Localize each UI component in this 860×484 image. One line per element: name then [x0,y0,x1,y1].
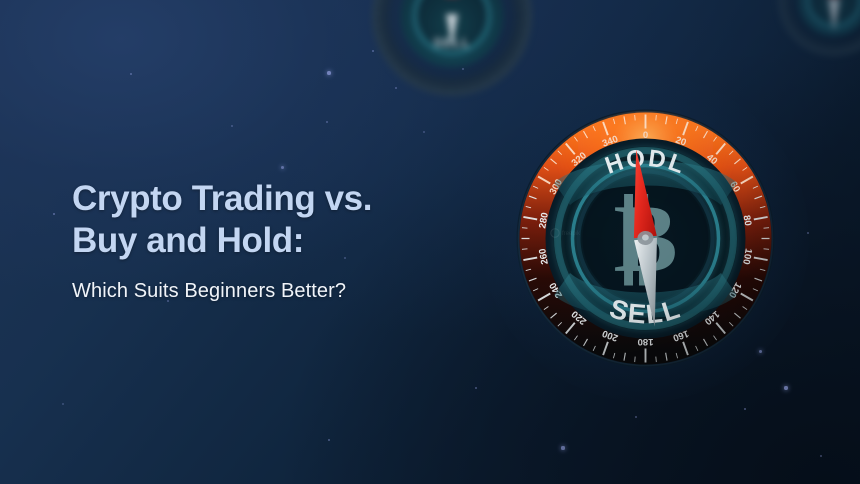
mini-dial-ring [414,0,491,54]
compass-svg: 0204060801001201401601802002202402602803… [516,109,775,368]
mini-needle-south-icon [446,14,458,46]
blurred-compass-top-right [778,0,860,56]
hero-banner: SELL Crypto Trading vs. Buy and Hold: Wh… [0,0,860,484]
mini-dial-face [401,0,503,67]
star-particle [327,71,331,75]
star-particle [326,121,328,123]
star-particle [130,73,133,76]
mini-needle-south-icon [828,0,840,31]
mini-bezel [778,0,860,56]
star-particle [635,416,637,418]
mini-label-south: SELL [372,35,532,50]
headline-block: Crypto Trading vs. Buy and Hold: Which S… [72,178,492,304]
mini-dial-ring [807,0,860,27]
page-subtitle: Which Suits Beginners Better? [72,278,492,304]
star-particle [475,387,477,389]
star-particle [395,87,397,89]
star-particle [281,166,284,169]
star-particle [231,125,233,127]
star-particle [372,50,375,53]
star-particle [62,403,64,405]
star-particle [462,68,464,70]
star-particle [807,232,809,234]
star-particle [53,213,56,216]
star-particle [820,455,822,457]
star-particle [784,386,787,389]
blurred-compass-top-center: SELL [372,0,532,96]
mini-dial-face [798,0,860,36]
page-title-line-1: Crypto Trading vs. [72,178,492,220]
star-particle [423,131,425,133]
page-title-line-2: Buy and Hold: [72,220,492,262]
star-particle [561,446,564,449]
star-particle [744,408,747,411]
star-particle [328,439,331,442]
crypto-decision-compass: 0204060801001201401601802002202402602803… [516,109,775,368]
mini-bezel: SELL [372,0,532,96]
